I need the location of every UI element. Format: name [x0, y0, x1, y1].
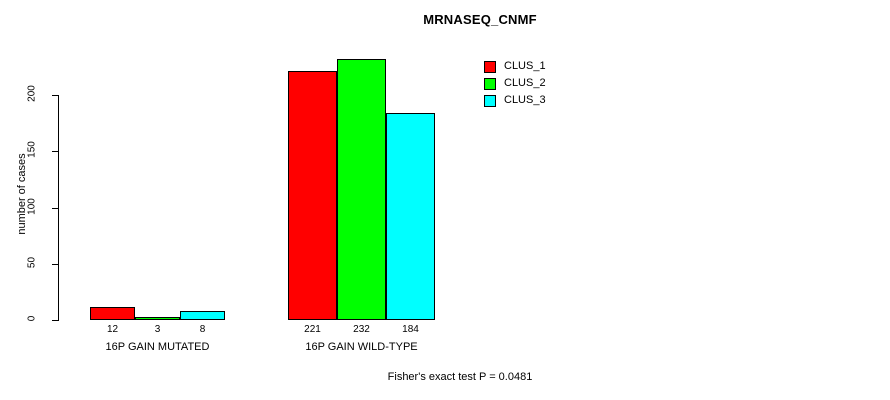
bar-clus_2-group-1[interactable]: [135, 317, 180, 320]
bar-value-label: 12: [90, 324, 135, 335]
bar-value-label: 221: [288, 324, 337, 335]
bar-clus_1-group-2[interactable]: [288, 71, 337, 320]
legend-color-swatch: [484, 95, 496, 107]
plot-area: 123816P GAIN MUTATED22123218416P GAIN WI…: [0, 0, 890, 400]
statistical-annotation: Fisher's exact test P = 0.0481: [330, 371, 590, 383]
legend-color-swatch: [484, 78, 496, 90]
legend-item[interactable]: CLUS_3: [484, 92, 546, 109]
bar-clus_2-group-2[interactable]: [337, 59, 386, 320]
bar-clus_1-group-1[interactable]: [90, 307, 135, 321]
x-axis-group-label: 16P GAIN MUTATED: [50, 341, 265, 353]
legend-item[interactable]: CLUS_2: [484, 75, 546, 92]
bar-value-label: 3: [135, 324, 180, 335]
bar-clus_3-group-1[interactable]: [180, 311, 225, 320]
bar-value-label: 184: [386, 324, 435, 335]
legend-color-swatch: [484, 61, 496, 73]
bar-value-label: 8: [180, 324, 225, 335]
bar-clus_3-group-2[interactable]: [386, 113, 435, 320]
legend-item-label: CLUS_1: [504, 61, 546, 72]
bar-value-label: 232: [337, 324, 386, 335]
legend-item-label: CLUS_2: [504, 78, 546, 89]
legend-item-label: CLUS_3: [504, 95, 546, 106]
legend-item[interactable]: CLUS_1: [484, 58, 546, 75]
legend: CLUS_1CLUS_2CLUS_3: [484, 58, 546, 109]
chart-canvas: MRNASEQ_CNMF number of cases 05010015020…: [0, 0, 890, 400]
x-axis-group-label: 16P GAIN WILD-TYPE: [248, 341, 475, 353]
